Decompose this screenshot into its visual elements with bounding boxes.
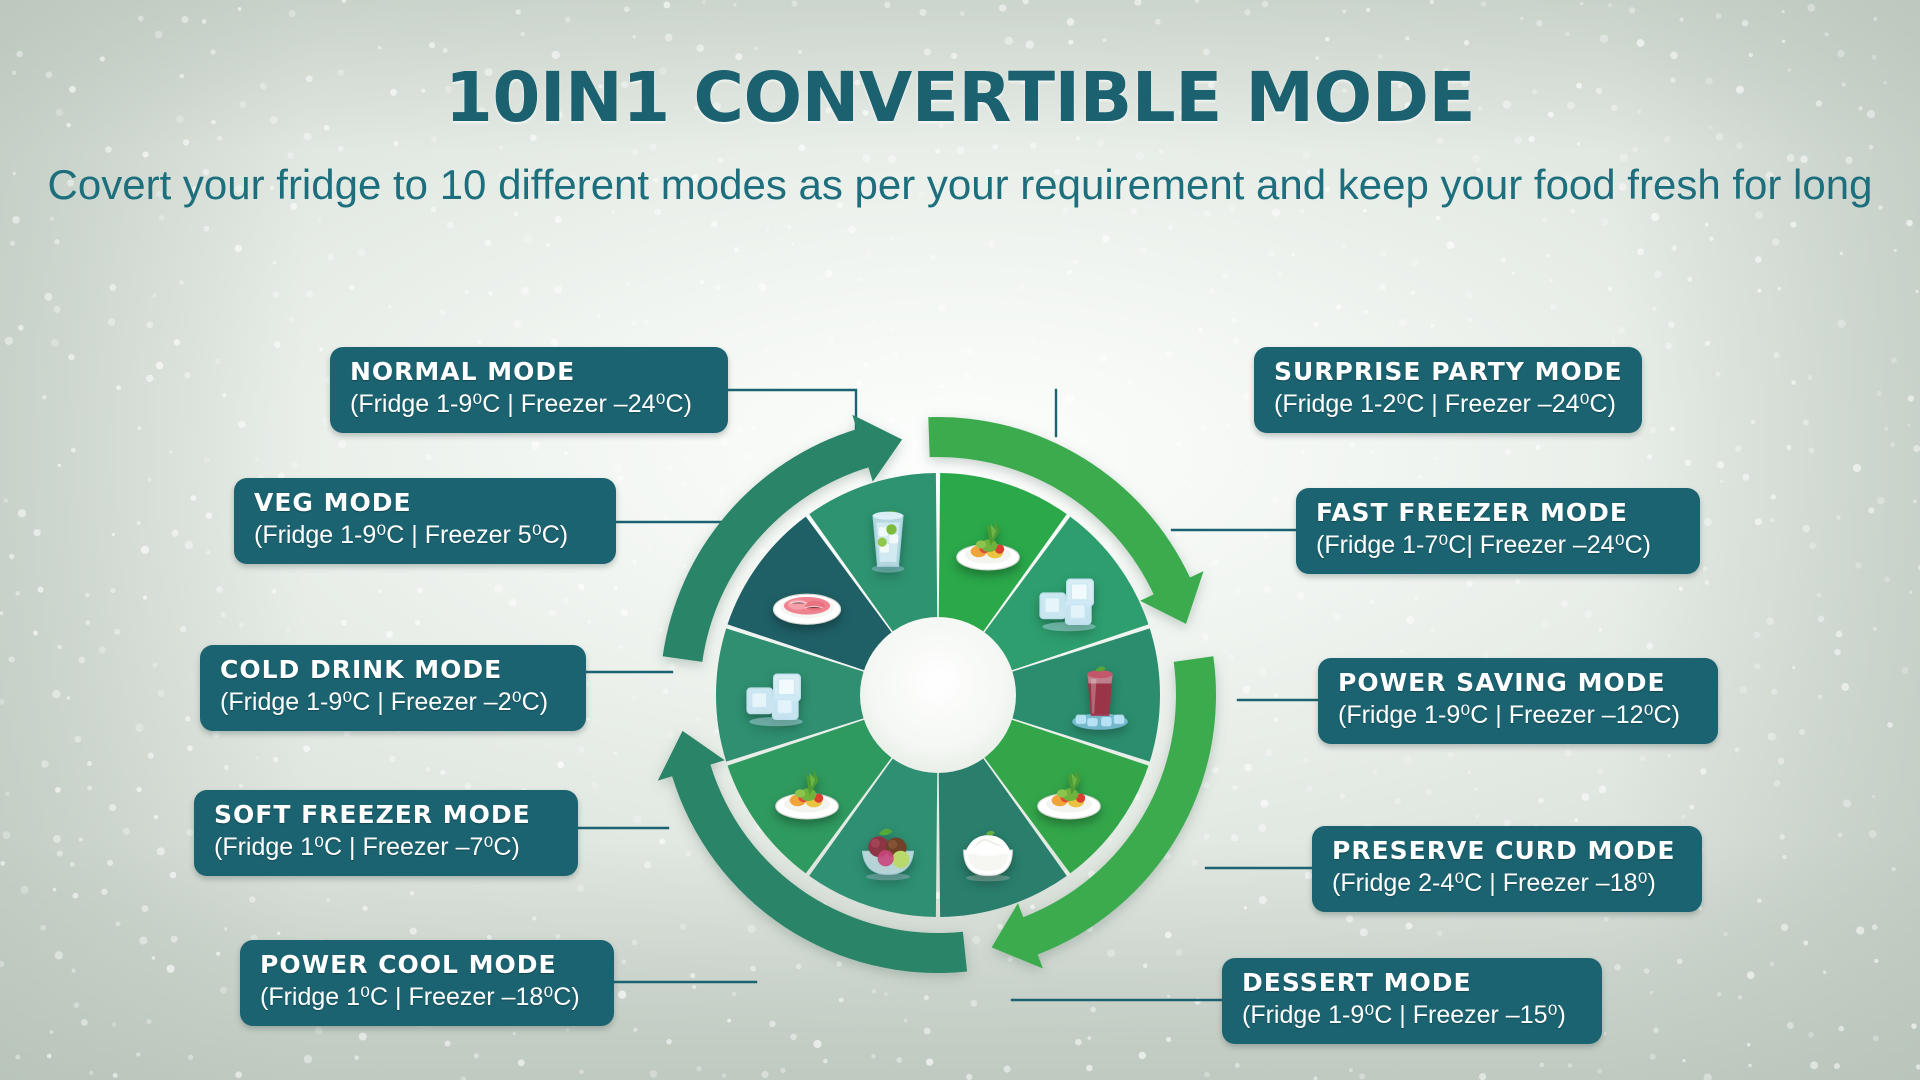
label-detail: (Fridge 1⁰C | Freezer –18⁰C) <box>260 978 594 1013</box>
convertible-mode-wheel <box>638 395 1238 995</box>
label-detail: (Fridge 1-7⁰C| Freezer –24⁰C) <box>1316 526 1680 561</box>
label-title: NORMAL MODE <box>350 358 708 385</box>
label-title: SOFT FREEZER MODE <box>214 801 558 828</box>
label-detail: (Fridge 2-4⁰C | Freezer –18⁰) <box>1332 864 1682 899</box>
label-title: COLD DRINK MODE <box>220 656 566 683</box>
label-title: POWER SAVING MODE <box>1338 669 1698 696</box>
label-detail: (Fridge 1-9⁰C | Freezer –15⁰) <box>1242 996 1582 1031</box>
label-title: FAST FREEZER MODE <box>1316 499 1680 526</box>
label-dessert-mode[interactable]: DESSERT MODE (Fridge 1-9⁰C | Freezer –15… <box>1222 958 1602 1044</box>
label-soft-freezer-mode[interactable]: SOFT FREEZER MODE (Fridge 1⁰C | Freezer … <box>194 790 578 876</box>
label-veg-mode[interactable]: VEG MODE (Fridge 1-9⁰C | Freezer 5⁰C) <box>234 478 616 564</box>
wheel-hub <box>860 617 1016 773</box>
label-detail: (Fridge 1-9⁰C | Freezer –2⁰C) <box>220 683 566 718</box>
label-normal-mode[interactable]: NORMAL MODE (Fridge 1-9⁰C | Freezer –24⁰… <box>330 347 728 433</box>
label-detail: (Fridge 1-2⁰C | Freezer –24⁰C) <box>1274 385 1622 420</box>
label-preserve-curd-mode[interactable]: PRESERVE CURD MODE (Fridge 2-4⁰C | Freez… <box>1312 826 1702 912</box>
label-detail: (Fridge 1⁰C | Freezer –7⁰C) <box>214 828 558 863</box>
label-cold-drink-mode[interactable]: COLD DRINK MODE (Fridge 1-9⁰C | Freezer … <box>200 645 586 731</box>
label-detail: (Fridge 1-9⁰C | Freezer –24⁰C) <box>350 385 708 420</box>
label-detail: (Fridge 1-9⁰C | Freezer –12⁰C) <box>1338 696 1698 731</box>
label-title: DESSERT MODE <box>1242 969 1582 996</box>
label-title: PRESERVE CURD MODE <box>1332 837 1682 864</box>
label-detail: (Fridge 1-9⁰C | Freezer 5⁰C) <box>254 516 596 551</box>
label-power-saving-mode[interactable]: POWER SAVING MODE (Fridge 1-9⁰C | Freeze… <box>1318 658 1718 744</box>
label-title: VEG MODE <box>254 489 596 516</box>
label-fast-freezer-mode[interactable]: FAST FREEZER MODE (Fridge 1-7⁰C| Freezer… <box>1296 488 1700 574</box>
label-title: SURPRISE PARTY MODE <box>1274 358 1622 385</box>
label-title: POWER COOL MODE <box>260 951 594 978</box>
label-surprise-party-mode[interactable]: SURPRISE PARTY MODE (Fridge 1-2⁰C | Free… <box>1254 347 1642 433</box>
label-power-cool-mode[interactable]: POWER COOL MODE (Fridge 1⁰C | Freezer –1… <box>240 940 614 1026</box>
